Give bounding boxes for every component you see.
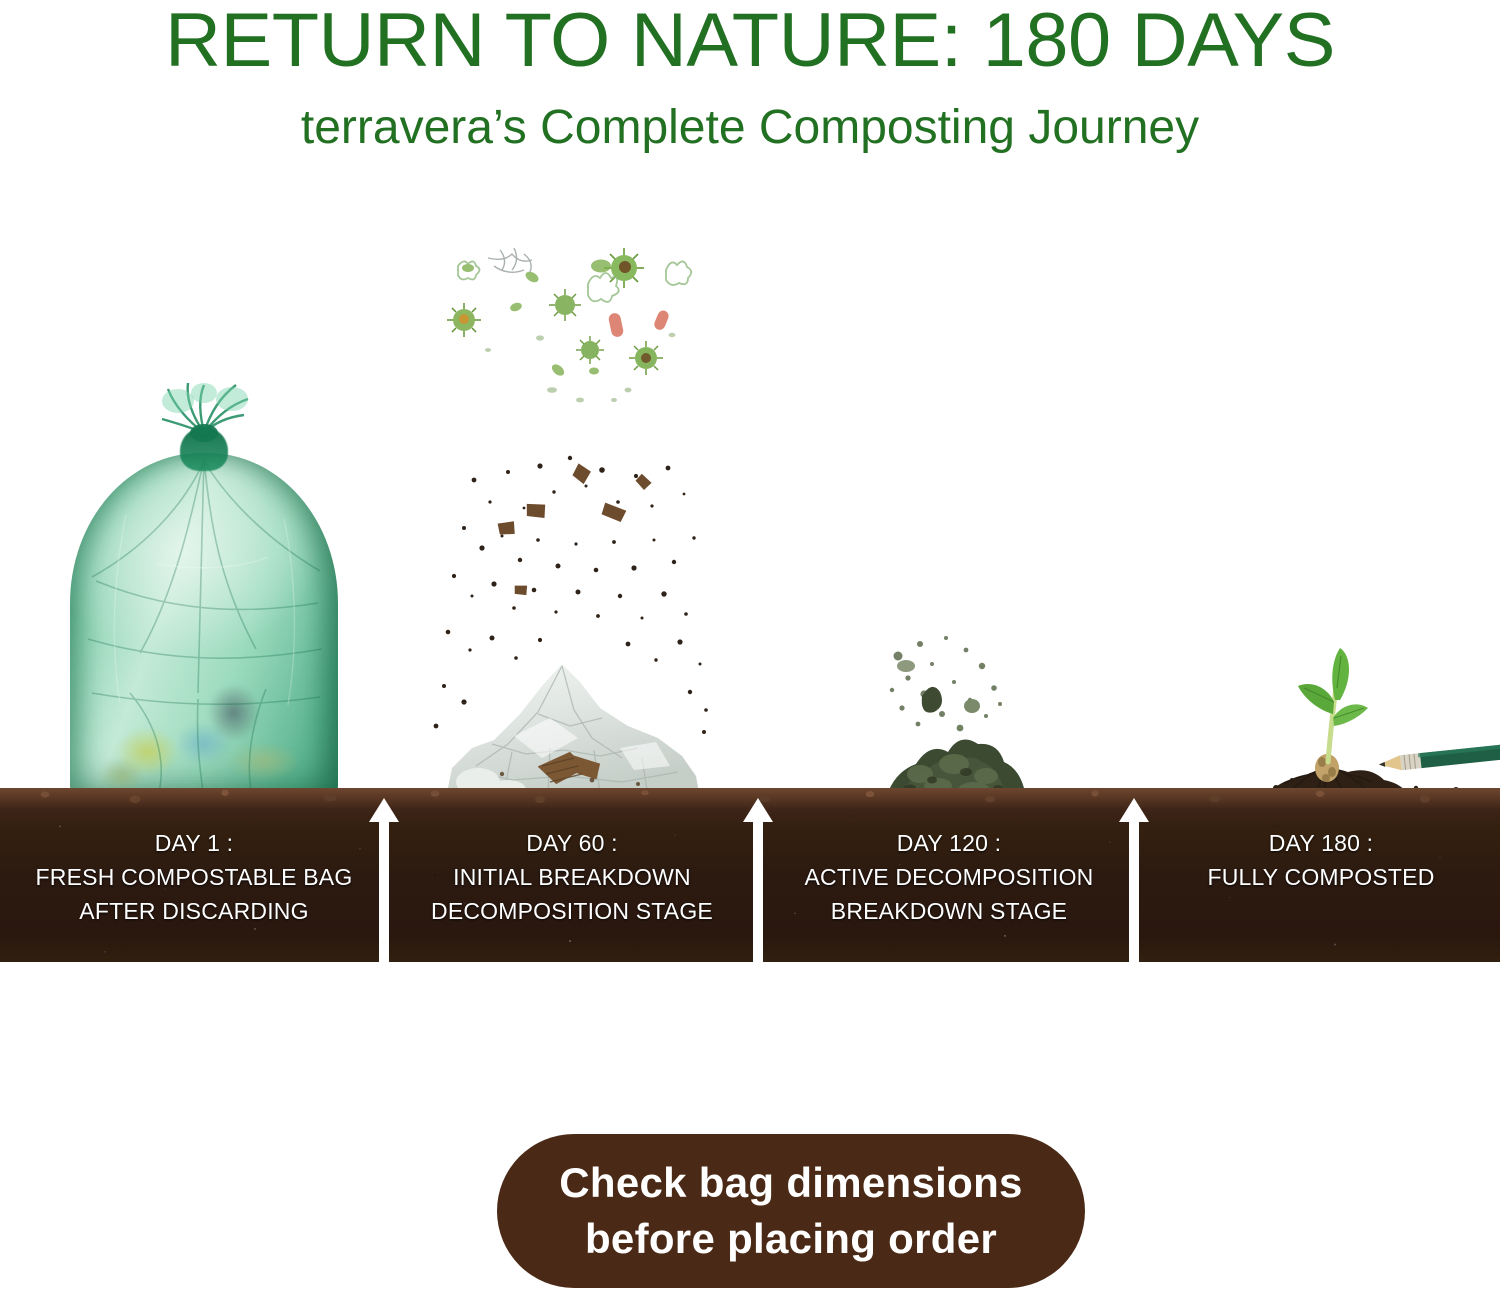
up-arrow-icon (741, 796, 775, 962)
stage-art-day-120 (862, 630, 1062, 800)
stage-art-day-60 (428, 240, 718, 800)
stage-desc-line1: INITIAL BREAKDOWN (404, 860, 740, 894)
timeline-scene: DAY 1 : FRESH COMPOSTABLE BAG AFTER DISC… (0, 230, 1500, 970)
cta-line1: Check bag dimensions (559, 1155, 1022, 1211)
stage-caption-day-120: DAY 120 : ACTIVE DECOMPOSITION BREAKDOWN… (784, 826, 1114, 928)
stage-desc-line1: ACTIVE DECOMPOSITION (784, 860, 1114, 894)
stage-desc-line2: BREAKDOWN STAGE (784, 894, 1114, 928)
stage-day-label: DAY 180 : (1160, 826, 1482, 860)
stage-desc-line2: DECOMPOSITION STAGE (404, 894, 740, 928)
cta-line2: before placing order (585, 1211, 997, 1267)
soil-surface-ridge (0, 788, 1500, 804)
up-arrow-icon (1117, 796, 1151, 962)
stage-caption-day-60: DAY 60 : INITIAL BREAKDOWN DECOMPOSITION… (404, 826, 740, 928)
bag-creases (70, 453, 338, 800)
stage-art-day-1 (62, 375, 347, 800)
stage-art-day-180 (1256, 630, 1500, 800)
stage-caption-day-180: DAY 180 : FULLY COMPOSTED (1160, 826, 1482, 894)
torn-bag (442, 652, 704, 800)
bag-knot (148, 381, 260, 443)
page-title: RETURN TO NATURE: 180 DAYS (0, 2, 1500, 80)
page-subtitle: terravera’s Complete Composting Journey (0, 98, 1500, 158)
stage-desc-line1: FULLY COMPOSTED (1160, 860, 1482, 894)
stage-day-label: DAY 60 : (404, 826, 740, 860)
header: RETURN TO NATURE: 180 DAYS terravera’s C… (0, 0, 1500, 158)
stage-day-label: DAY 1 : (20, 826, 368, 860)
composting-journey-infographic: RETURN TO NATURE: 180 DAYS terravera’s C… (0, 0, 1500, 1300)
check-bag-dimensions-button[interactable]: Check bag dimensions before placing orde… (497, 1134, 1085, 1288)
up-arrow-icon (367, 796, 401, 962)
stage-desc-line2: AFTER DISCARDING (20, 894, 368, 928)
soil-band: DAY 1 : FRESH COMPOSTABLE BAG AFTER DISC… (0, 788, 1500, 962)
stage-desc-line1: FRESH COMPOSTABLE BAG (20, 860, 368, 894)
stage-day-label: DAY 120 : (784, 826, 1114, 860)
stage-caption-day-1: DAY 1 : FRESH COMPOSTABLE BAG AFTER DISC… (20, 826, 368, 928)
